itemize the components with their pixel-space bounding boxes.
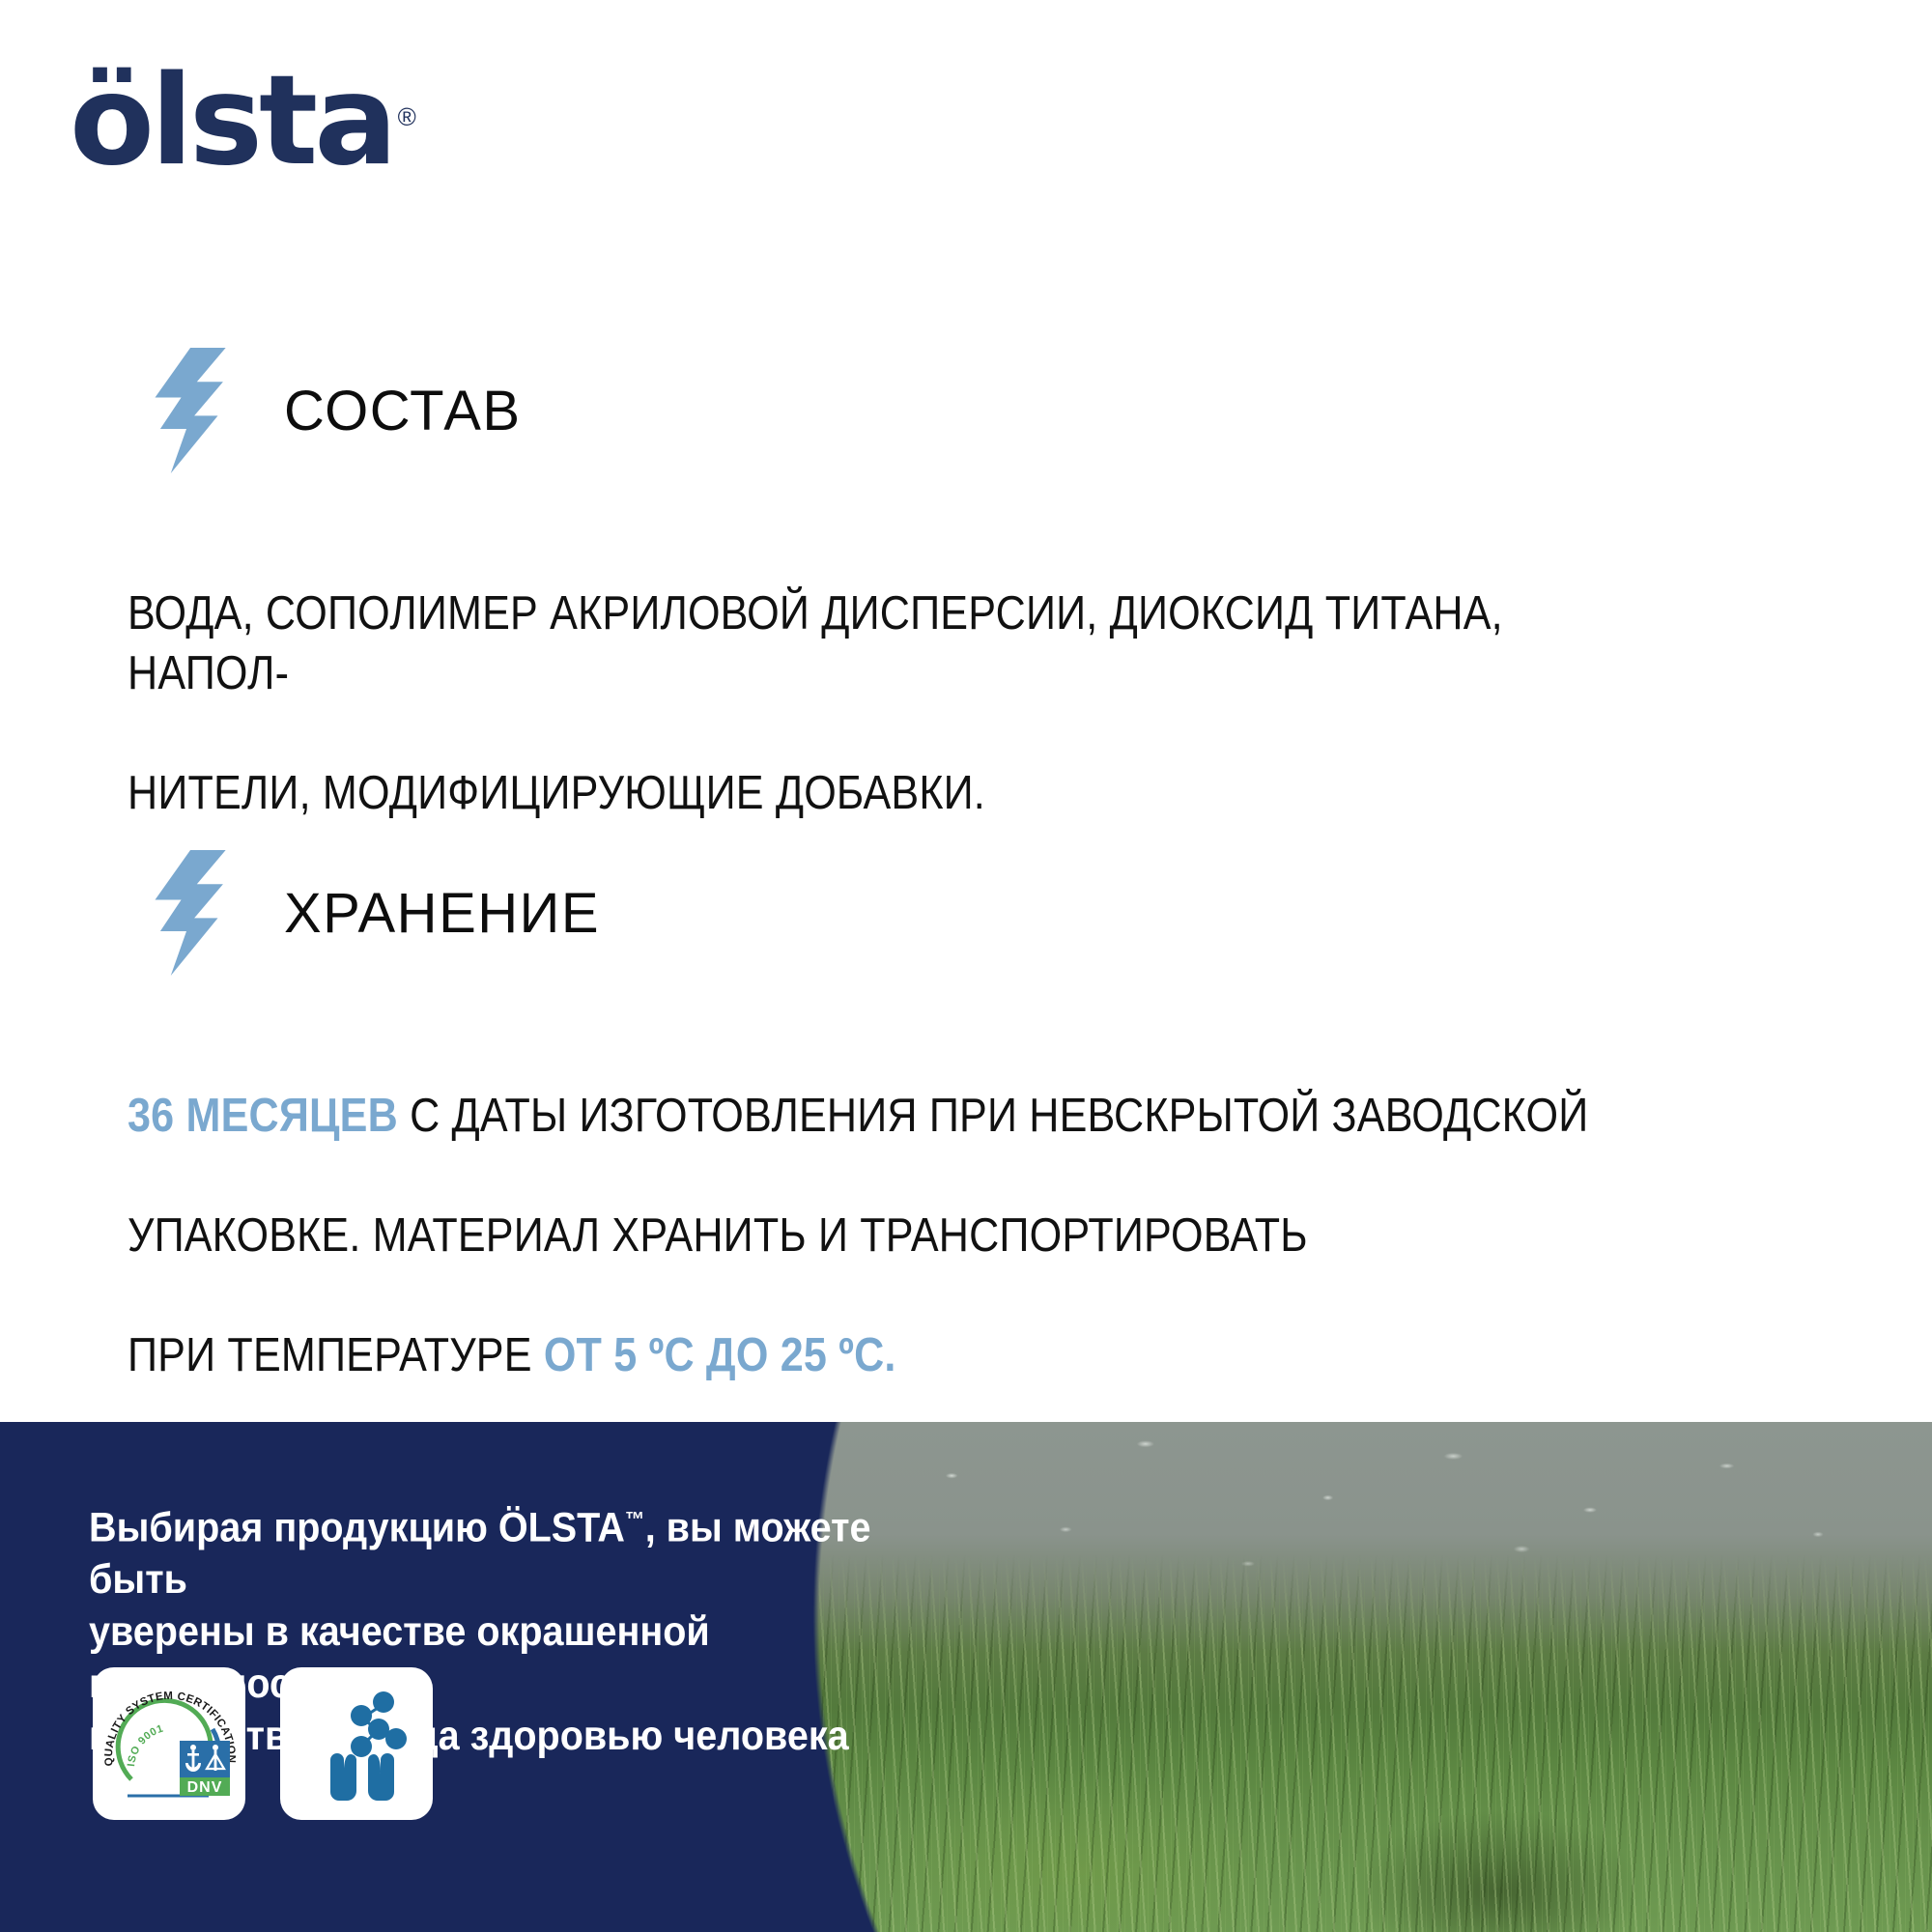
storage-duration-value: 36 МЕСЯЦЕВ <box>128 1090 398 1142</box>
grass-blades-texture <box>792 1422 1932 1932</box>
lightning-bolt-icon <box>145 348 228 473</box>
section-sostav: СОСТАВ ВОДА, СОПОЛИМЕР АКРИЛОВОЙ ДИСПЕРС… <box>0 348 1932 883</box>
trademark-icon: ™ <box>625 1507 645 1531</box>
hands-holding-molecule-icon <box>280 1667 433 1820</box>
section-sostav-body: ВОДА, СОПОЛИМЕР АКРИЛОВОЙ ДИСПЕРСИИ, ДИО… <box>0 524 1700 883</box>
grass-and-water-photo <box>792 1422 1932 1932</box>
section-sostav-header: СОСТАВ <box>0 348 1932 473</box>
dnv-iso-9001-badge: QUALITY SYSTEM CERTIFICATION ISO 9001 <box>93 1667 245 1820</box>
body-line: УПАКОВКЕ. МАТЕРИАЛ ХРАНИТЬ И ТРАНСПОРТИР… <box>128 1206 1598 1265</box>
health-safety-badge <box>280 1667 433 1820</box>
storage-temperature-value: ОТ 5 ºC ДО 25 ºC. <box>544 1329 896 1381</box>
section-sostav-title: СОСТАВ <box>284 379 522 443</box>
body-text: НИТЕЛИ, МОДИФИЦИРУЮЩИЕ ДОБАВКИ. <box>128 767 985 819</box>
certification-badges: QUALITY SYSTEM CERTIFICATION ISO 9001 <box>93 1667 433 1820</box>
brand-logo-text: ölsta <box>70 60 394 184</box>
section-hranenie: ХРАНЕНИЕ 36 МЕСЯЦЕВ С ДАТЫ ИЗГОТОВЛЕНИЯ … <box>0 850 1932 1445</box>
banner-line-1-part-a: Выбирая продукцию ÖLSTA <box>89 1504 625 1550</box>
section-hranenie-body: 36 МЕСЯЦЕВ С ДАТЫ ИЗГОТОВЛЕНИЯ ПРИ НЕВСК… <box>0 1026 1700 1445</box>
body-text: ПРИ ТЕМПЕРАТУРЕ <box>128 1329 544 1381</box>
product-info-page: ölsta ® СОСТАВ ВОДА, СОПОЛИМЕР АКРИЛОВОЙ… <box>0 0 1932 1932</box>
body-text: ВОДА, СОПОЛИМЕР АКРИЛОВОЙ ДИСПЕРСИИ, ДИО… <box>128 587 1503 699</box>
section-hranenie-title: ХРАНЕНИЕ <box>284 881 600 946</box>
section-hranenie-header: ХРАНЕНИЕ <box>0 850 1932 976</box>
lightning-bolt-icon <box>145 850 228 976</box>
body-line: ВОДА, СОПОЛИМЕР АКРИЛОВОЙ ДИСПЕРСИИ, ДИО… <box>128 583 1598 703</box>
bottom-banner: Выбирая продукцию ÖLSTA™, вы можете быть… <box>0 1422 1932 1932</box>
body-line: ПРИ ТЕМПЕРАТУРЕ ОТ 5 ºC ДО 25 ºC. <box>128 1325 1598 1385</box>
registered-trademark-icon: ® <box>398 102 416 132</box>
svg-text:DNV: DNV <box>187 1779 223 1796</box>
svg-text:ISO 9001: ISO 9001 <box>126 1723 165 1768</box>
body-text: С ДАТЫ ИЗГОТОВЛЕНИЯ ПРИ НЕВСКРЫТОЙ ЗАВОД… <box>398 1090 1588 1142</box>
dnv-iso-9001-logo: QUALITY SYSTEM CERTIFICATION ISO 9001 <box>93 1667 245 1820</box>
brand-logo: ölsta ® <box>70 60 416 184</box>
body-text: УПАКОВКЕ. МАТЕРИАЛ ХРАНИТЬ И ТРАНСПОРТИР… <box>128 1209 1308 1262</box>
body-line: НИТЕЛИ, МОДИФИЦИРУЮЩИЕ ДОБАВКИ. <box>128 763 1598 823</box>
body-line: 36 МЕСЯЦЕВ С ДАТЫ ИЗГОТОВЛЕНИЯ ПРИ НЕВСК… <box>128 1086 1598 1146</box>
